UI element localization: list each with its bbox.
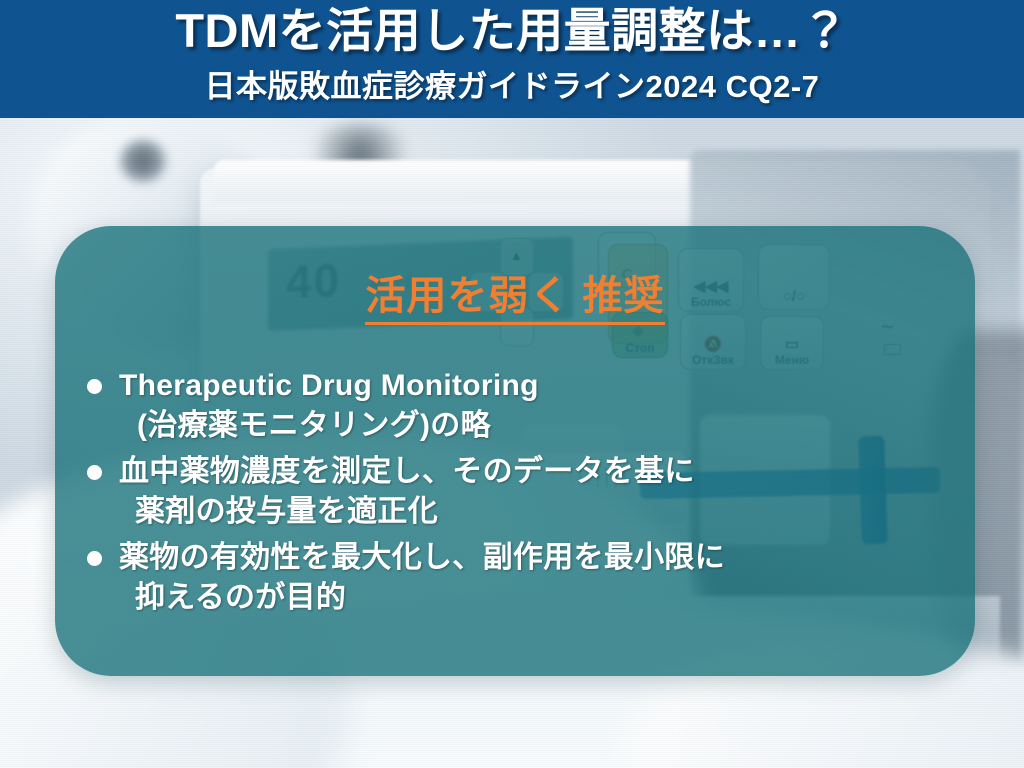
bullet-line-2: 抑えるのが目的	[119, 578, 955, 618]
recommendation-text: 活用を弱く 推奨	[365, 274, 664, 325]
slide-root: 40 мл/ч ▲ ▶ С ◈ Стоп ◀◀◀ Болюс 🔕 ОткЗвк	[0, 0, 1024, 768]
bullet-line-2: 薬剤の投与量を適正化	[119, 492, 955, 532]
list-item: 血中薬物濃度を測定し、そのデータを基に 薬剤の投与量を適正化	[75, 452, 955, 532]
page-title: TDMを活用した用量調整は…？	[0, 6, 1024, 55]
bullet-line-1: 血中薬物濃度を測定し、そのデータを基に	[119, 452, 955, 492]
bullet-dot-icon	[87, 465, 102, 480]
list-item: Therapeutic Drug Monitoring (治療薬モニタリング)の…	[75, 366, 955, 446]
slide-header-band: TDMを活用した用量調整は…？ 日本版敗血症診療ガイドライン2024 CQ2-7	[0, 0, 1024, 118]
content-card: 活用を弱く 推奨 Therapeutic Drug Monitoring (治療…	[55, 226, 975, 676]
bullet-line-1: 薬物の有効性を最大化し、副作用を最小限に	[119, 538, 955, 578]
bullet-line-1: Therapeutic Drug Monitoring	[119, 366, 955, 406]
photo-blur-spot	[120, 140, 166, 182]
page-subtitle: 日本版敗血症診療ガイドライン2024 CQ2-7	[0, 71, 1024, 104]
recommendation-heading: 活用を弱く 推奨	[55, 274, 975, 325]
list-item: 薬物の有効性を最大化し、副作用を最小限に 抑えるのが目的	[75, 538, 955, 618]
bullet-list: Therapeutic Drug Monitoring (治療薬モニタリング)の…	[75, 366, 955, 624]
bullet-dot-icon	[87, 379, 102, 394]
bullet-dot-icon	[87, 551, 102, 566]
bullet-line-2: (治療薬モニタリング)の略	[119, 406, 955, 446]
